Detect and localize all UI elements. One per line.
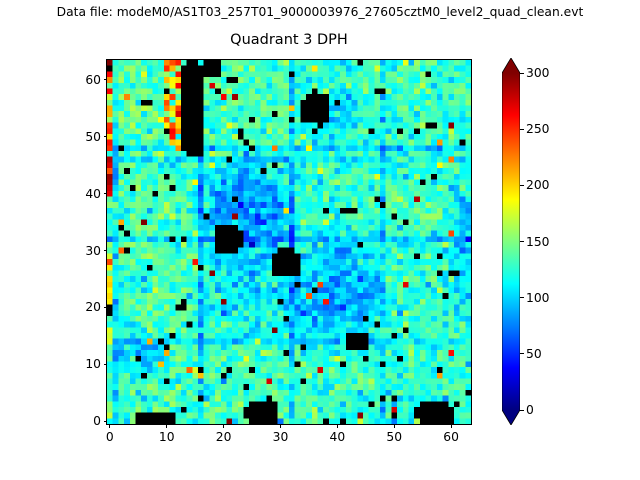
colorbar[interactable] — [502, 58, 520, 425]
y-tick-mark — [104, 136, 108, 137]
colorbar-tick-label: 0 — [526, 403, 534, 417]
datafile-label: Data file: modeM0/AS1T03_257T01_90000039… — [0, 5, 640, 20]
y-tick-label: 60 — [85, 73, 101, 87]
colorbar-extend-min-arrow — [502, 410, 520, 425]
x-tick-label: 10 — [159, 430, 175, 444]
colorbar-tick-label: 300 — [526, 66, 549, 80]
colorbar-tick-label: 150 — [526, 235, 549, 249]
y-tick-mark — [104, 364, 108, 365]
y-tick-mark — [104, 79, 108, 80]
x-tick-label: 40 — [330, 430, 346, 444]
colorbar-tick-mark — [520, 129, 524, 130]
heatmap-axes[interactable] — [106, 59, 472, 425]
colorbar-gradient — [502, 58, 520, 425]
y-tick-label: 10 — [85, 357, 101, 371]
colorbar-tick-mark — [520, 241, 524, 242]
colorbar-tick-label: 100 — [526, 291, 549, 305]
x-tick-mark — [280, 424, 281, 428]
colorbar-tick-label: 200 — [526, 178, 549, 192]
y-tick-mark — [104, 193, 108, 194]
colorbar-tick-mark — [520, 185, 524, 186]
colorbar-tick-mark — [520, 297, 524, 298]
x-tick-mark — [337, 424, 338, 428]
colorbar-tick-mark — [520, 73, 524, 74]
colorbar-tick-mark — [520, 410, 524, 411]
figure-canvas: Data file: modeM0/AS1T03_257T01_90000039… — [0, 0, 640, 480]
x-tick-mark — [451, 424, 452, 428]
colorbar-tick-mark — [520, 353, 524, 354]
x-tick-label: 50 — [386, 430, 402, 444]
y-tick-label: 40 — [85, 187, 101, 201]
x-tick-mark — [223, 424, 224, 428]
y-tick-label: 50 — [85, 130, 101, 144]
y-tick-mark — [104, 250, 108, 251]
x-tick-mark — [166, 424, 167, 428]
y-tick-label: 30 — [85, 244, 101, 258]
y-tick-mark — [104, 421, 108, 422]
x-tick-label: 0 — [106, 430, 114, 444]
x-tick-mark — [394, 424, 395, 428]
x-tick-label: 60 — [443, 430, 459, 444]
y-tick-label: 0 — [93, 414, 101, 428]
y-tick-label: 20 — [85, 300, 101, 314]
x-tick-label: 20 — [216, 430, 232, 444]
page-title: Quadrant 3 DPH — [107, 31, 471, 49]
x-tick-mark — [109, 424, 110, 428]
heatmap-image[interactable] — [107, 60, 471, 424]
y-tick-mark — [104, 307, 108, 308]
colorbar-tick-label: 50 — [526, 347, 542, 361]
colorbar-extend-max-arrow — [502, 58, 520, 73]
colorbar-tick-label: 250 — [526, 122, 549, 136]
x-tick-label: 30 — [273, 430, 289, 444]
